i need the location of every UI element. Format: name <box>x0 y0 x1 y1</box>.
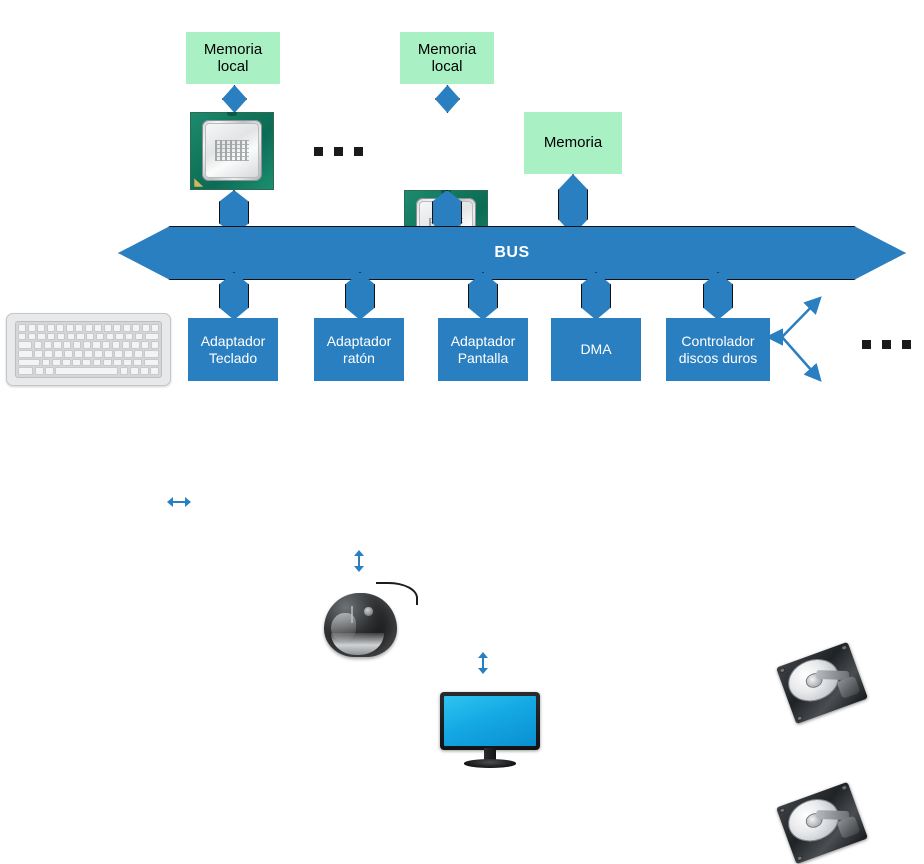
cpu-1 <box>190 112 274 190</box>
adaptador-pantalla-line1: Adaptador <box>451 333 516 350</box>
adaptador-pantalla-box[interactable]: Adaptador Pantalla <box>438 318 528 381</box>
mouse-lower-shell <box>331 633 384 655</box>
memoria-local-1-line2: local <box>204 58 262 75</box>
mouse-icon <box>318 579 414 659</box>
adaptador-raton-box[interactable]: Adaptador ratón <box>314 318 404 381</box>
monitor-icon <box>440 692 540 770</box>
controlador-discos-line1: Controlador <box>679 333 758 350</box>
ellipsis-dot <box>902 340 911 349</box>
keyboard-row <box>18 367 159 375</box>
memoria-box: Memoria <box>524 112 622 174</box>
ellipsis-dot <box>862 340 871 349</box>
ellipsis-dot <box>314 147 323 156</box>
mouse-body <box>324 593 397 657</box>
keyboard-icon <box>6 313 171 386</box>
cpu-ellipsis <box>314 147 363 156</box>
keyboard-row <box>18 333 159 341</box>
keyboard-row <box>18 359 159 367</box>
adaptador-teclado-line2: Teclado <box>201 350 266 367</box>
hard-disk-icon-1 <box>776 642 868 724</box>
adaptador-teclado-line1: Adaptador <box>201 333 266 350</box>
controlador-discos-line2: discos duros <box>679 350 758 367</box>
diagram-canvas: Memoria local Memoria local <box>0 0 924 496</box>
adaptador-raton-line2: ratón <box>327 350 392 367</box>
adaptador-pantalla-line2: Pantalla <box>451 350 516 367</box>
ellipsis-dot <box>882 340 891 349</box>
link-adaptador-to-raton <box>353 550 365 572</box>
keyboard-row <box>18 324 159 332</box>
adaptador-raton-line1: Adaptador <box>327 333 392 350</box>
mouse-button-split <box>351 606 353 623</box>
keyboard-row <box>18 350 159 358</box>
connector-memoria-to-bus <box>558 174 588 235</box>
ellipsis-dot <box>354 147 363 156</box>
connector-memoria-local-1-to-cpu-1 <box>222 85 247 113</box>
connector-memoria-local-2-to-cpu-2 <box>435 85 460 113</box>
ellipsis-dot <box>334 147 343 156</box>
memoria-local-1-line1: Memoria <box>204 41 262 58</box>
mouse-wheel <box>364 607 373 615</box>
memoria-local-2-line2: local <box>418 58 476 75</box>
dma-label: DMA <box>580 341 611 358</box>
monitor-base <box>464 759 516 768</box>
memoria-local-1-box: Memoria local <box>186 32 280 84</box>
link-controlador-to-discos <box>768 282 830 392</box>
keyboard-row <box>18 341 159 349</box>
cpu-1-notch <box>227 112 237 116</box>
monitor-screen <box>444 696 536 746</box>
cpu-1-die-marking <box>215 140 249 161</box>
dma-box[interactable]: DMA <box>551 318 641 381</box>
cpu-1-corner-marker <box>194 178 203 186</box>
link-adaptador-to-pantalla <box>477 652 489 674</box>
disk-ellipsis <box>862 340 911 349</box>
cpu-1-heat-spreader <box>202 120 263 181</box>
monitor-bezel <box>440 692 540 750</box>
memoria-local-2-box: Memoria local <box>400 32 494 84</box>
memoria-label: Memoria <box>544 134 602 151</box>
bus-bar: BUS <box>118 226 906 280</box>
memoria-local-2-line1: Memoria <box>418 41 476 58</box>
adaptador-teclado-box[interactable]: Adaptador Teclado <box>188 318 278 381</box>
link-teclado-to-adaptador <box>167 496 191 508</box>
controlador-discos-duros-box[interactable]: Controlador discos duros <box>666 318 770 381</box>
hard-disk-icon-2 <box>776 782 868 864</box>
bus-label: BUS <box>494 244 529 262</box>
